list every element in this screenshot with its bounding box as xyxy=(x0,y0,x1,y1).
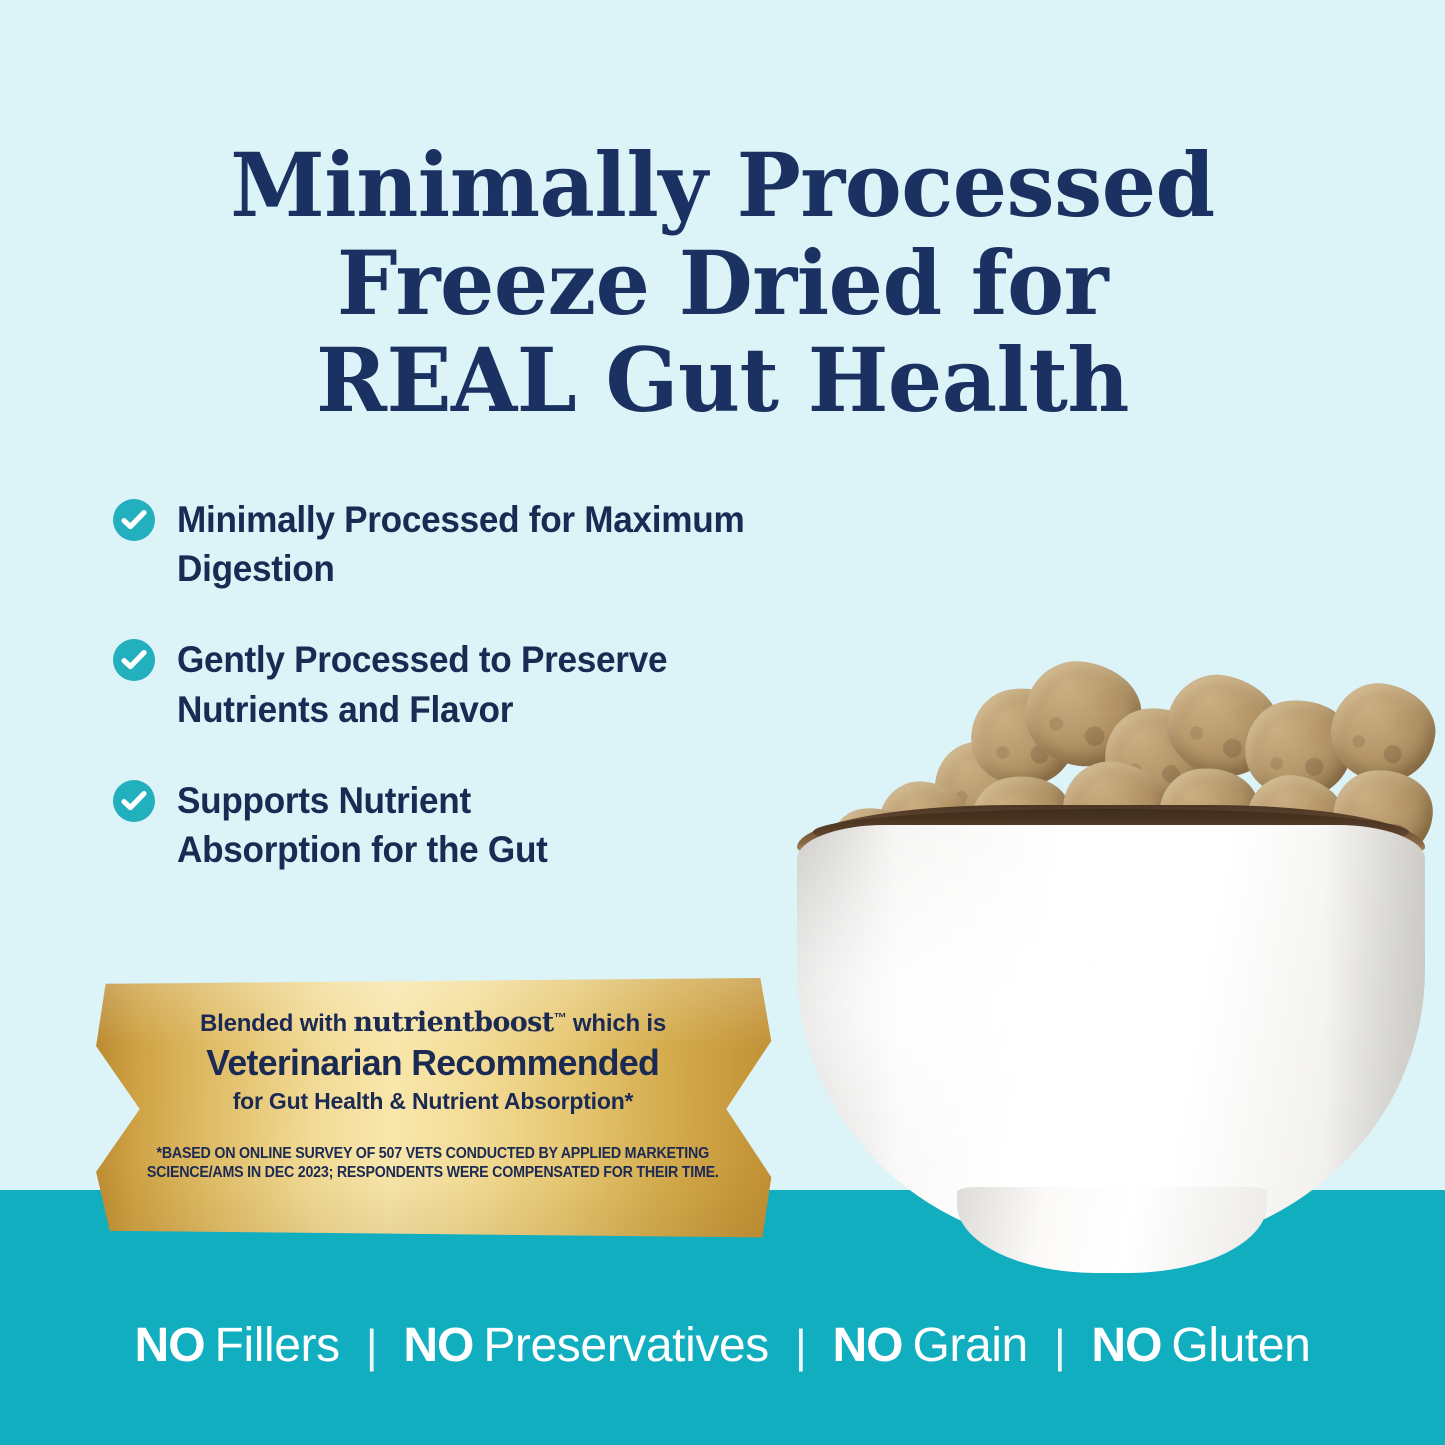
list-item: Minimally Processed for Maximum Digestio… xyxy=(113,495,813,593)
ribbon-line-2: Veterinarian Recommended xyxy=(207,1043,660,1083)
claim-word: Fillers xyxy=(215,1318,340,1373)
check-circle-icon xyxy=(113,639,155,681)
headline-line-2: Freeze Dried for xyxy=(22,235,1424,333)
claim-no-label: NO xyxy=(832,1318,902,1373)
veterinarian-recommended-badge: Blended with nutrientboost™ which is Vet… xyxy=(92,978,774,1240)
headline-line-1: Minimally Processed xyxy=(22,137,1424,235)
claim-word: Gluten xyxy=(1171,1318,1310,1373)
claim-grain: NO Grain xyxy=(832,1318,1027,1373)
list-item-label: Minimally Processed for Maximum Digestio… xyxy=(177,495,781,593)
headline-line-3: REAL Gut Health xyxy=(22,332,1424,430)
ribbon-content: Blended with nutrientboost™ which is Vet… xyxy=(92,978,774,1240)
claim-word: Preservatives xyxy=(483,1318,769,1373)
check-circle-icon xyxy=(113,780,155,822)
claim-preservatives: NO Preservatives xyxy=(403,1318,769,1373)
promo-banner: Minimally Processed Freeze Dried for REA… xyxy=(0,0,1445,1445)
ribbon-line-1: Blended with nutrientboost™ which is xyxy=(200,1008,666,1038)
list-item-label: Supports Nutrient Absorption for the Gut xyxy=(177,776,548,874)
claims-strip: NO Fillers | NO Preservatives | NO Grain… xyxy=(0,1318,1445,1373)
list-item-label: Gently Processed to Preserve Nutrients a… xyxy=(177,635,667,733)
claim-gluten: NO Gluten xyxy=(1091,1318,1310,1373)
benefits-list: Minimally Processed for Maximum Digestio… xyxy=(113,495,813,916)
ribbon-line1-suffix: which is xyxy=(566,1010,666,1037)
page-title: Minimally Processed Freeze Dried for REA… xyxy=(22,137,1424,430)
ceramic-bowl xyxy=(797,805,1425,1295)
claim-word: Grain xyxy=(912,1318,1027,1373)
list-item: Gently Processed to Preserve Nutrients a… xyxy=(113,635,813,733)
bowl-foot xyxy=(957,1187,1267,1273)
nutrientboost-brand: nutrientboost xyxy=(353,1007,553,1038)
product-photo xyxy=(775,650,1445,1295)
claim-fillers: NO Fillers xyxy=(135,1318,340,1373)
claim-separator: | xyxy=(366,1319,378,1373)
claim-no-label: NO xyxy=(403,1318,473,1373)
claim-separator: | xyxy=(1054,1319,1066,1373)
ribbon-fine-print: *BASED ON ONLINE SURVEY OF 507 VETS COND… xyxy=(147,1145,719,1183)
claim-no-label: NO xyxy=(1091,1318,1161,1373)
ribbon-line-3: for Gut Health & Nutrient Absorption* xyxy=(233,1089,634,1114)
list-item: Supports Nutrient Absorption for the Gut xyxy=(113,776,813,874)
ribbon-line1-prefix: Blended with xyxy=(200,1010,353,1037)
claim-separator: | xyxy=(795,1319,807,1373)
claim-no-label: NO xyxy=(135,1318,205,1373)
trademark-symbol: ™ xyxy=(554,1010,567,1025)
check-circle-icon xyxy=(113,499,155,541)
